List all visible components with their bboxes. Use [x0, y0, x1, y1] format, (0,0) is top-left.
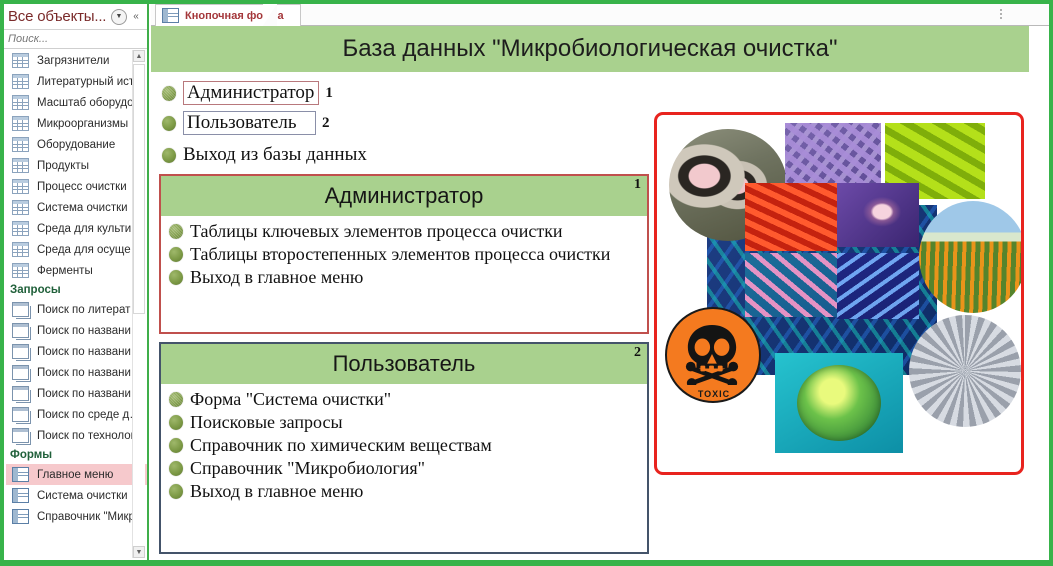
panel-item-label: Таблицы второстепенных элементов процесс… [190, 244, 610, 265]
nav-item-table[interactable]: Литературный исто... [6, 71, 147, 92]
nav-item-label: Система очистки [37, 490, 128, 502]
table-icon [12, 95, 29, 110]
panel-item-search-queries[interactable]: Поисковые запросы [161, 411, 647, 434]
nav-item-query[interactable]: Поиск по технологи... [6, 425, 147, 446]
nav-item-label: Поиск по названию... [37, 367, 147, 379]
table-icon [12, 158, 29, 173]
table-icon [12, 74, 29, 89]
nav-item-label: Поиск по названию... [37, 325, 147, 337]
menu-item-exit-database[interactable]: Выход из базы данных [162, 143, 367, 167]
bullet-icon [162, 116, 176, 131]
search-input[interactable] [8, 33, 149, 45]
query-icon [12, 386, 29, 401]
document-tab-strip: Кнопочная форма [151, 4, 1049, 26]
menu-item-label: Пользователь [187, 112, 297, 133]
nav-item-label: Оборудование [37, 139, 115, 151]
nav-item-query[interactable]: Поиск по названию... [6, 362, 147, 383]
panel-item-label: Выход в главное меню [190, 267, 363, 288]
panel-badge: 1 [634, 177, 641, 193]
navigation-search-bar[interactable]: 🔍 [4, 30, 147, 49]
navigation-object-list[interactable]: Загрязнители Литературный исто... Масшта… [4, 50, 147, 560]
nav-item-form-main-menu[interactable]: Главное меню [6, 464, 147, 485]
panel-title: Администратор [325, 183, 484, 209]
nav-group-header-forms[interactable]: Формы ▲ [6, 446, 147, 464]
nav-item-query[interactable]: Поиск по названию... [6, 341, 147, 362]
violet-rod-micrograph-image [837, 183, 919, 247]
flower-field-photo-image [919, 201, 1024, 313]
nav-group-header-queries[interactable]: Запросы ▲ [6, 281, 147, 299]
nav-item-table[interactable]: Оборудование [6, 134, 147, 155]
menu-item-user[interactable]: Пользователь 2 [162, 111, 330, 135]
nav-item-table[interactable]: Среда для осуществ... [6, 239, 147, 260]
toxic-skull-sign-icon: TOXIC [665, 307, 765, 415]
panel-item-label: Справочник "Микробиология" [190, 458, 425, 479]
nav-item-label: Процесс очистки [37, 181, 127, 193]
toxic-label: TOXIC [679, 389, 749, 399]
nav-item-label: Литературный исто... [37, 76, 147, 88]
menu-item-user-frame[interactable]: Пользователь [183, 111, 316, 135]
table-icon [12, 200, 29, 215]
panel-item-label: Выход в главное меню [190, 481, 363, 502]
bullet-icon [162, 86, 176, 101]
query-icon [12, 344, 29, 359]
nav-item-label: Поиск по литератур... [37, 304, 147, 316]
nav-item-query[interactable]: Поиск по среде для ... [6, 404, 147, 425]
panel-item-label: Форма "Система очистки" [190, 389, 391, 410]
navigation-pane: Все объекты... ▼ « 🔍 Загрязнители Литера… [4, 4, 149, 560]
menu-item-label: Администратор [187, 82, 314, 103]
panel-badge: 2 [634, 345, 641, 361]
bullet-icon [169, 461, 183, 476]
nav-item-label: Среда для осуществ... [37, 244, 147, 256]
query-icon [12, 407, 29, 422]
query-icon [12, 323, 29, 338]
nav-group-label: Запросы [10, 284, 132, 296]
blue-rods-micrograph-image [837, 253, 919, 319]
nav-item-query[interactable]: Поиск по названию... [6, 383, 147, 404]
table-icon [12, 116, 29, 131]
form-icon [12, 467, 29, 482]
panel-item-microbiology-reference[interactable]: Справочник "Микробиология" [161, 457, 647, 480]
collage-tiles: TOXIC [657, 115, 1021, 472]
menu-item-administrator-frame[interactable]: Администратор [183, 81, 319, 105]
nav-item-label: Ферменты [37, 265, 93, 277]
nav-item-form[interactable]: Справочник "Микр... [6, 506, 147, 527]
microbiology-image-collage: TOXIC [654, 112, 1024, 475]
nav-item-table[interactable]: Процесс очистки [6, 176, 147, 197]
table-icon [12, 263, 29, 278]
bullet-icon [169, 247, 183, 262]
menu-item-administrator[interactable]: Администратор 1 [162, 81, 333, 105]
nav-item-label: Поиск по среде для ... [37, 409, 147, 421]
nav-item-label: Масштаб оборудов... [37, 97, 147, 109]
scroll-up-arrow-icon[interactable]: ▲ [133, 50, 145, 62]
table-icon [12, 221, 29, 236]
form-icon [12, 488, 29, 503]
panel-item-secondary-tables[interactable]: Таблицы второстепенных элементов процесс… [161, 243, 647, 266]
circle-chevron-down-icon[interactable]: ▼ [111, 9, 127, 25]
nav-item-label: Поиск по названию... [37, 346, 147, 358]
bullet-icon [169, 415, 183, 430]
tab-kнопочная-форма[interactable]: Кнопочная форма [155, 4, 301, 26]
panel-item-label: Справочник по химическим веществам [190, 435, 492, 456]
panel-administrator: Администратор 1 Таблицы ключевых элемент… [159, 174, 649, 334]
table-icon [12, 53, 29, 68]
double-chevron-left-icon[interactable]: « [129, 10, 143, 24]
nav-item-table[interactable]: Система очистки [6, 197, 147, 218]
panel-item-exit-to-main-menu[interactable]: Выход в главное меню [161, 266, 647, 289]
nav-item-label: Микроорганизмы [37, 118, 128, 130]
nav-item-table[interactable]: Загрязнители [6, 50, 147, 71]
nav-item-table[interactable]: Среда для культива... [6, 218, 147, 239]
scroll-down-arrow-icon[interactable]: ▼ [133, 546, 145, 558]
panel-user-body: Форма "Система очистки" Поисковые запрос… [161, 384, 647, 507]
panel-user-header: Пользователь 2 [161, 344, 647, 384]
bullet-icon [169, 438, 183, 453]
query-icon [12, 302, 29, 317]
window-border-right [1049, 0, 1053, 566]
panel-item-label: Таблицы ключевых элементов процесса очис… [190, 221, 563, 242]
table-icon [12, 242, 29, 257]
nav-group-label: Формы [10, 449, 132, 461]
vertical-ellipsis-icon[interactable] [997, 6, 1005, 22]
table-icon [12, 179, 29, 194]
bullet-icon [169, 224, 183, 239]
form-vertical-scrollbar[interactable] [1029, 26, 1049, 560]
nav-item-table[interactable]: Ферменты [6, 260, 147, 281]
switchboard-form: База данных "Микробиологическая очистка"… [151, 26, 1029, 560]
form-icon [162, 8, 179, 23]
form-icon [12, 509, 29, 524]
page-title: База данных "Микробиологическая очистка" [343, 35, 838, 63]
panel-item-cleaning-system-form[interactable]: Форма "Система очистки" [161, 388, 647, 411]
panel-item-label: Поисковые запросы [190, 412, 343, 433]
menu-item-label: Выход из базы данных [183, 144, 367, 166]
query-icon [12, 428, 29, 443]
petri-dish-photo-image [775, 353, 903, 453]
panel-item-key-tables[interactable]: Таблицы ключевых элементов процесса очис… [161, 220, 647, 243]
nav-item-table[interactable]: Микроорганизмы [6, 113, 147, 134]
nav-item-label: Справочник "Микр... [37, 511, 145, 523]
nav-item-label: Загрязнители [37, 55, 109, 67]
access-application-window: Все объекты... ▼ « 🔍 Загрязнители Литера… [0, 0, 1053, 566]
menu-item-number: 1 [325, 85, 333, 102]
query-icon [12, 365, 29, 380]
red-rods-micrograph-image [745, 183, 837, 251]
scrollbar-thumb[interactable] [133, 64, 145, 314]
virus-particle-micrograph-image [909, 315, 1021, 427]
window-border-bottom [0, 560, 1053, 566]
navigation-pane-scrollbar[interactable]: ▲ ▼ [132, 50, 145, 558]
nav-item-query[interactable]: Поиск по названию... [6, 320, 147, 341]
navigation-pane-header: Все объекты... ▼ « [4, 4, 147, 30]
nav-item-label: Поиск по названию... [37, 388, 147, 400]
panel-title: Пользователь [333, 351, 476, 377]
nav-item-label: Среда для культива... [37, 223, 147, 235]
panel-user: Пользователь 2 Форма "Система очистки" П… [159, 342, 649, 554]
menu-item-number: 2 [322, 115, 330, 132]
nav-item-label: Поиск по технологи... [37, 430, 147, 442]
nav-item-table[interactable]: Масштаб оборудов... [6, 92, 147, 113]
panel-administrator-body: Таблицы ключевых элементов процесса очис… [161, 216, 647, 293]
nav-item-label: Система очистки [37, 202, 128, 214]
bullet-icon [162, 148, 176, 163]
nav-item-table[interactable]: Продукты [6, 155, 147, 176]
form-banner: База данных "Микробиологическая очистка" [151, 26, 1029, 72]
table-icon [12, 137, 29, 152]
nav-item-label: Продукты [37, 160, 89, 172]
bullet-icon [169, 484, 183, 499]
nav-item-query[interactable]: Поиск по литератур... [6, 299, 147, 320]
nav-item-form[interactable]: Система очистки [6, 485, 147, 506]
bullet-icon [169, 392, 183, 407]
nav-item-label: Главное меню [37, 469, 113, 481]
panel-administrator-header: Администратор 1 [161, 176, 647, 216]
navigation-pane-title[interactable]: Все объекты... [8, 8, 109, 25]
bullet-icon [169, 270, 183, 285]
skull-and-crossbones-icon [683, 323, 741, 385]
tab-slant-decoration [263, 4, 277, 27]
panel-item-chemicals-reference[interactable]: Справочник по химическим веществам [161, 434, 647, 457]
panel-item-exit-to-main-menu[interactable]: Выход в главное меню [161, 480, 647, 503]
